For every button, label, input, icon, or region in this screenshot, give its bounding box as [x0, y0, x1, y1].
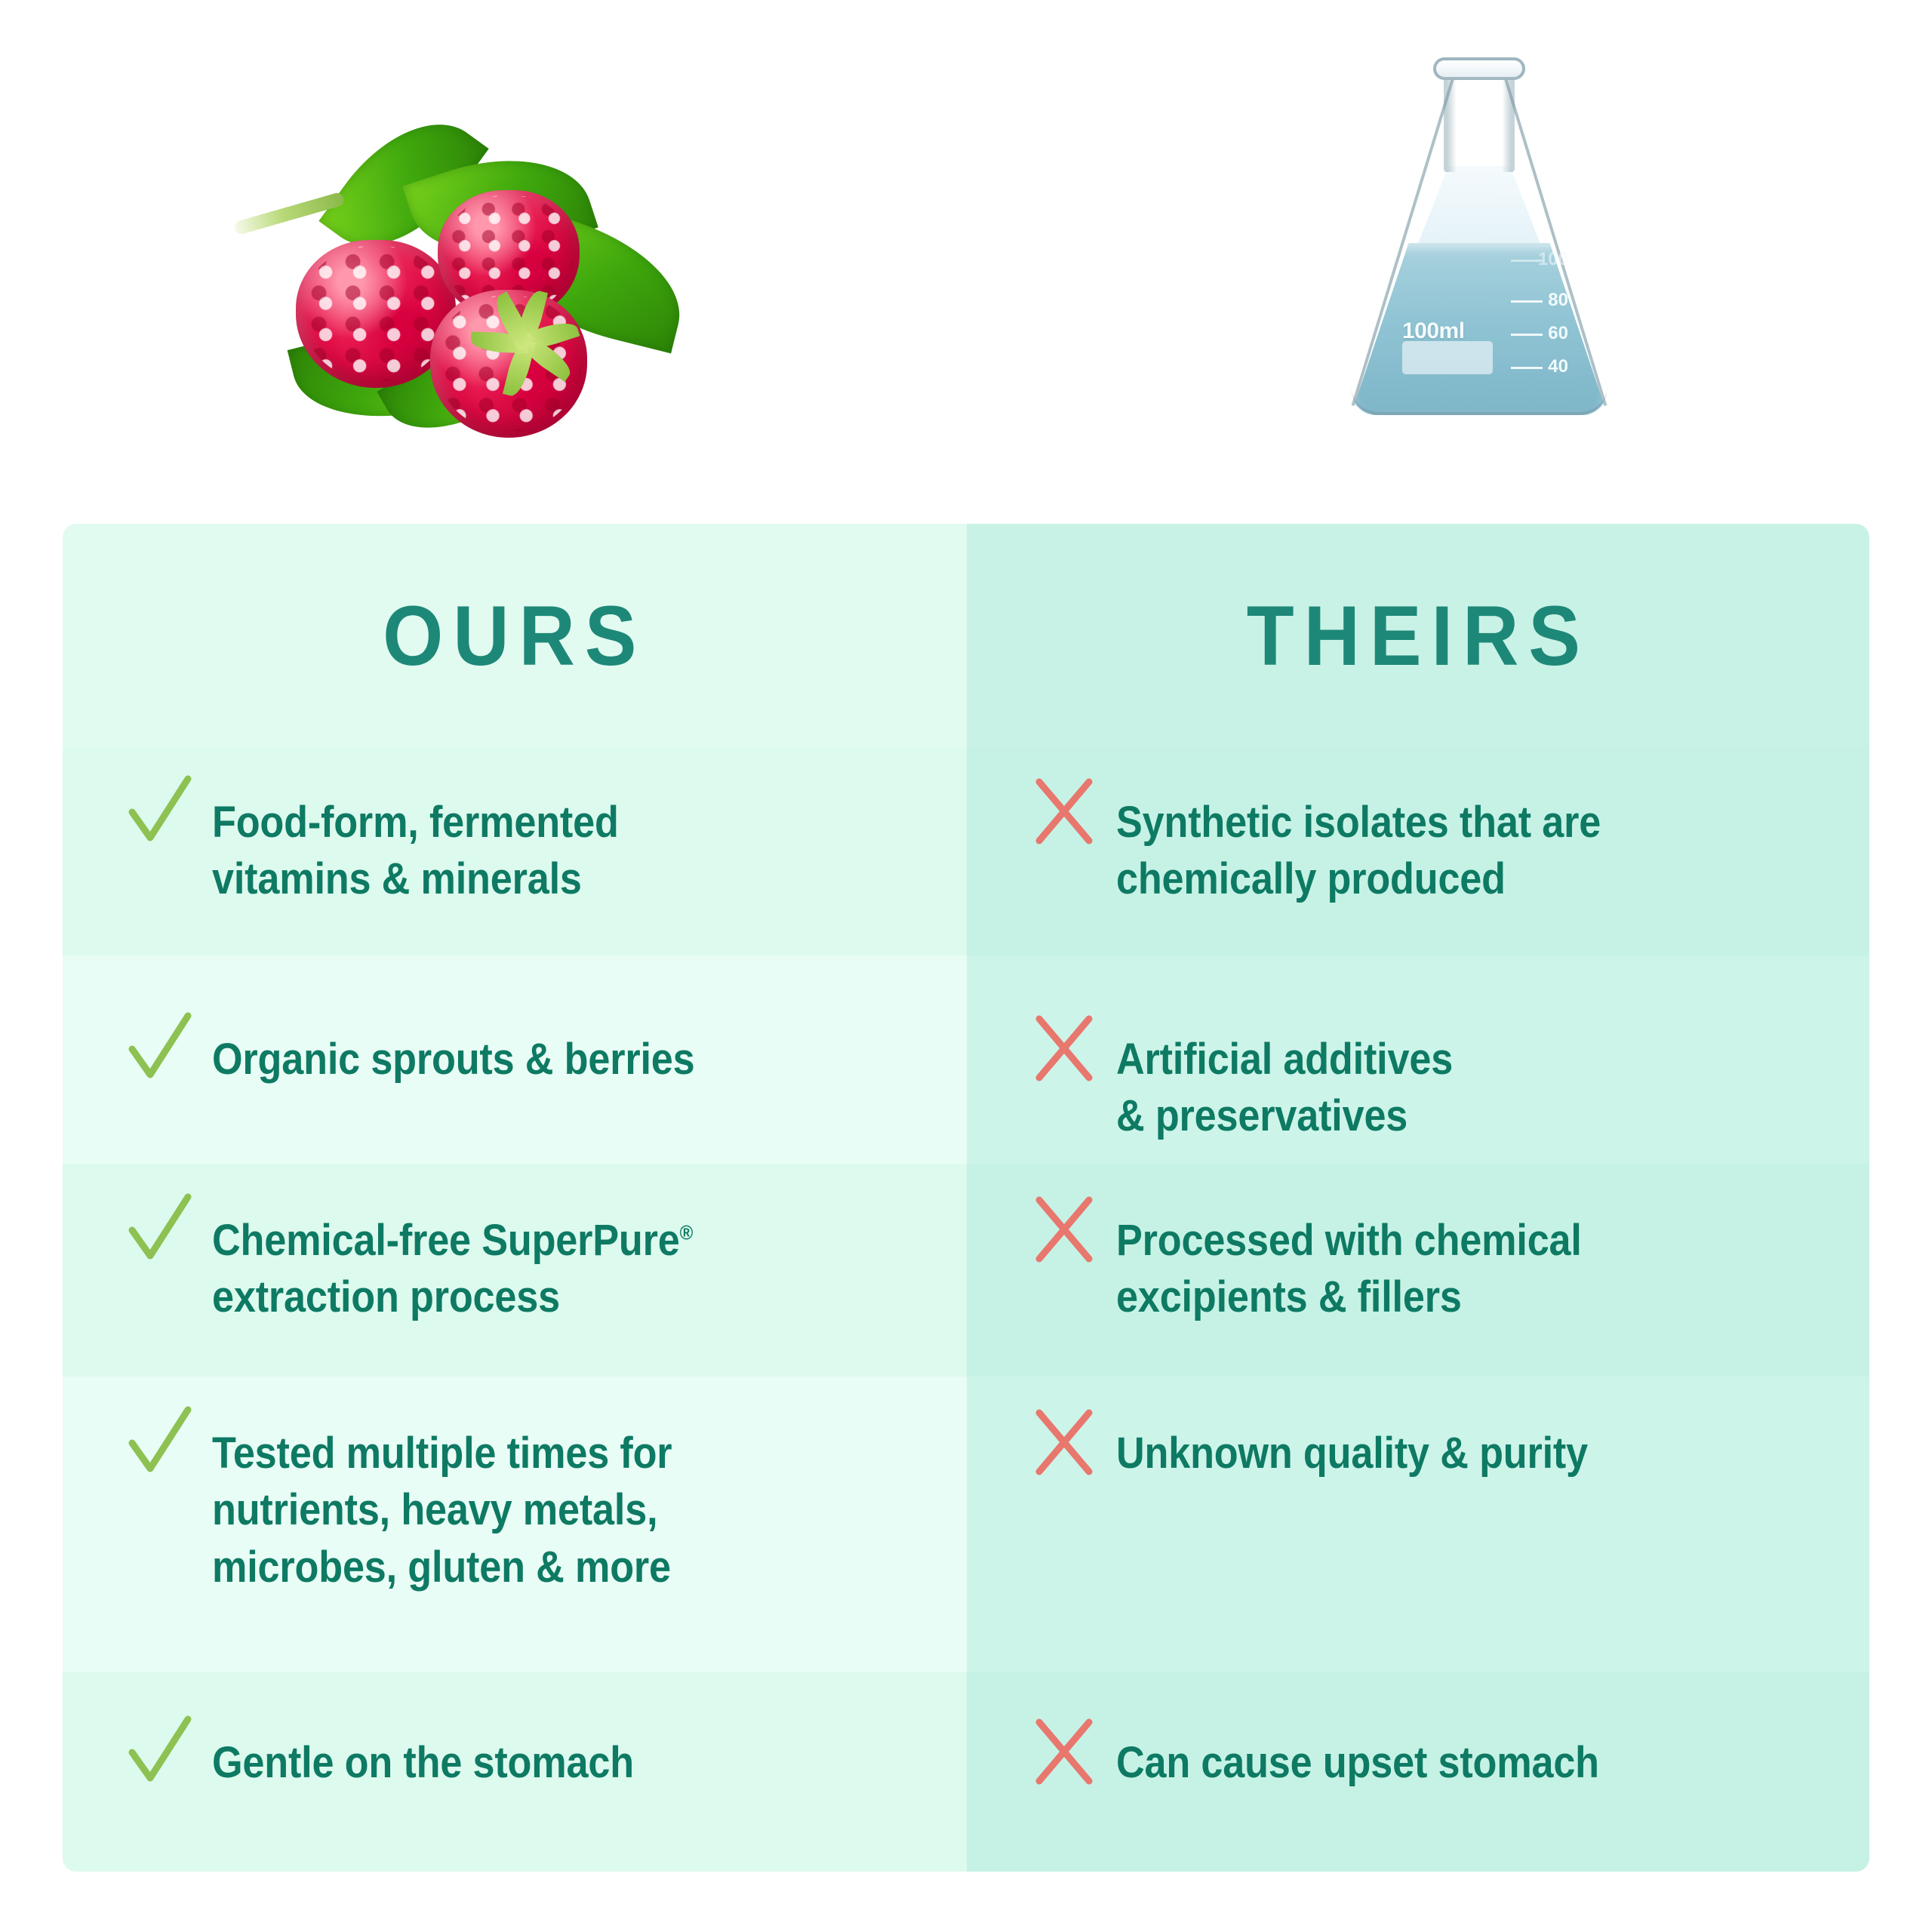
- list-item-label: Chemical-free SuperPure®extraction proce…: [212, 1206, 693, 1326]
- flask-label-patch: [1402, 341, 1493, 374]
- list-item-label: Food-form, fermented vitamins & minerals: [212, 788, 619, 908]
- list-item-label: Processed with chemical excipients & fil…: [1116, 1206, 1582, 1326]
- flask-rim: [1433, 57, 1525, 80]
- check-icon: [128, 1014, 192, 1084]
- flask-capacity-label: 100ml: [1402, 318, 1465, 344]
- table-row: Unknown quality & purity: [967, 1377, 1869, 1672]
- comparison-column-theirs: THEIRS Synthetic isolates that are chemi…: [967, 524, 1869, 1872]
- table-row: Gentle on the stomach: [63, 1672, 967, 1872]
- raspberry-calyx-icon: [477, 291, 590, 397]
- cross-icon: [1032, 1014, 1097, 1084]
- comparison-table: OURS Food-form, fermented vitamins & min…: [63, 524, 1869, 1872]
- list-item-label: Organic sprouts & berries: [212, 1025, 694, 1088]
- column-title-theirs: THEIRS: [1246, 587, 1589, 685]
- table-row: Synthetic isolates that are chemically p…: [967, 747, 1869, 955]
- check-icon: [128, 1408, 192, 1478]
- list-item-label: Can cause upset stomach: [1116, 1728, 1599, 1791]
- list-item-label: Synthetic isolates that are chemically p…: [1116, 788, 1601, 908]
- cross-icon: [1032, 1195, 1097, 1265]
- cross-icon: [1032, 1718, 1097, 1787]
- column-title-ours: OURS: [383, 587, 646, 685]
- table-row: Organic sprouts & berries: [63, 955, 967, 1164]
- list-item-label: Unknown quality & purity: [1116, 1419, 1588, 1481]
- check-icon: [128, 777, 192, 847]
- comparison-column-ours: OURS Food-form, fermented vitamins & min…: [63, 524, 967, 1872]
- list-item-label: Tested multiple times for nutrients, hea…: [212, 1419, 672, 1595]
- flask-graduation-80: 80: [1548, 290, 1568, 311]
- list-item-label: Artificial additives & preservatives: [1116, 1025, 1453, 1145]
- cross-icon: [1032, 1408, 1097, 1478]
- infographic-page: 100ml 100 80 60 40 OURS Food-form, ferme…: [0, 0, 1932, 1932]
- table-row: Artificial additives & preservatives: [967, 955, 1869, 1164]
- list-item-label: Gentle on the stomach: [212, 1728, 634, 1791]
- flask-graduation-40: 40: [1548, 356, 1568, 377]
- table-row: Food-form, fermented vitamins & minerals: [63, 747, 967, 955]
- table-row: Processed with chemical excipients & fil…: [967, 1164, 1869, 1377]
- cross-icon: [1032, 777, 1097, 847]
- column-header-theirs: THEIRS: [967, 524, 1869, 747]
- check-icon: [128, 1195, 192, 1265]
- flask-graduation-100: 100: [1538, 249, 1568, 270]
- raspberries-photo: [211, 128, 694, 453]
- erlenmeyer-flask-photo: 100ml 100 80 60 40: [1328, 30, 1630, 483]
- hero-images: 100ml 100 80 60 40: [0, 0, 1932, 524]
- flask-graduation-60: 60: [1548, 323, 1568, 344]
- column-header-ours: OURS: [63, 524, 967, 747]
- table-row: Can cause upset stomach: [967, 1672, 1869, 1872]
- check-icon: [128, 1718, 192, 1787]
- table-row: Tested multiple times for nutrients, hea…: [63, 1377, 967, 1672]
- table-row: Chemical-free SuperPure®extraction proce…: [63, 1164, 967, 1377]
